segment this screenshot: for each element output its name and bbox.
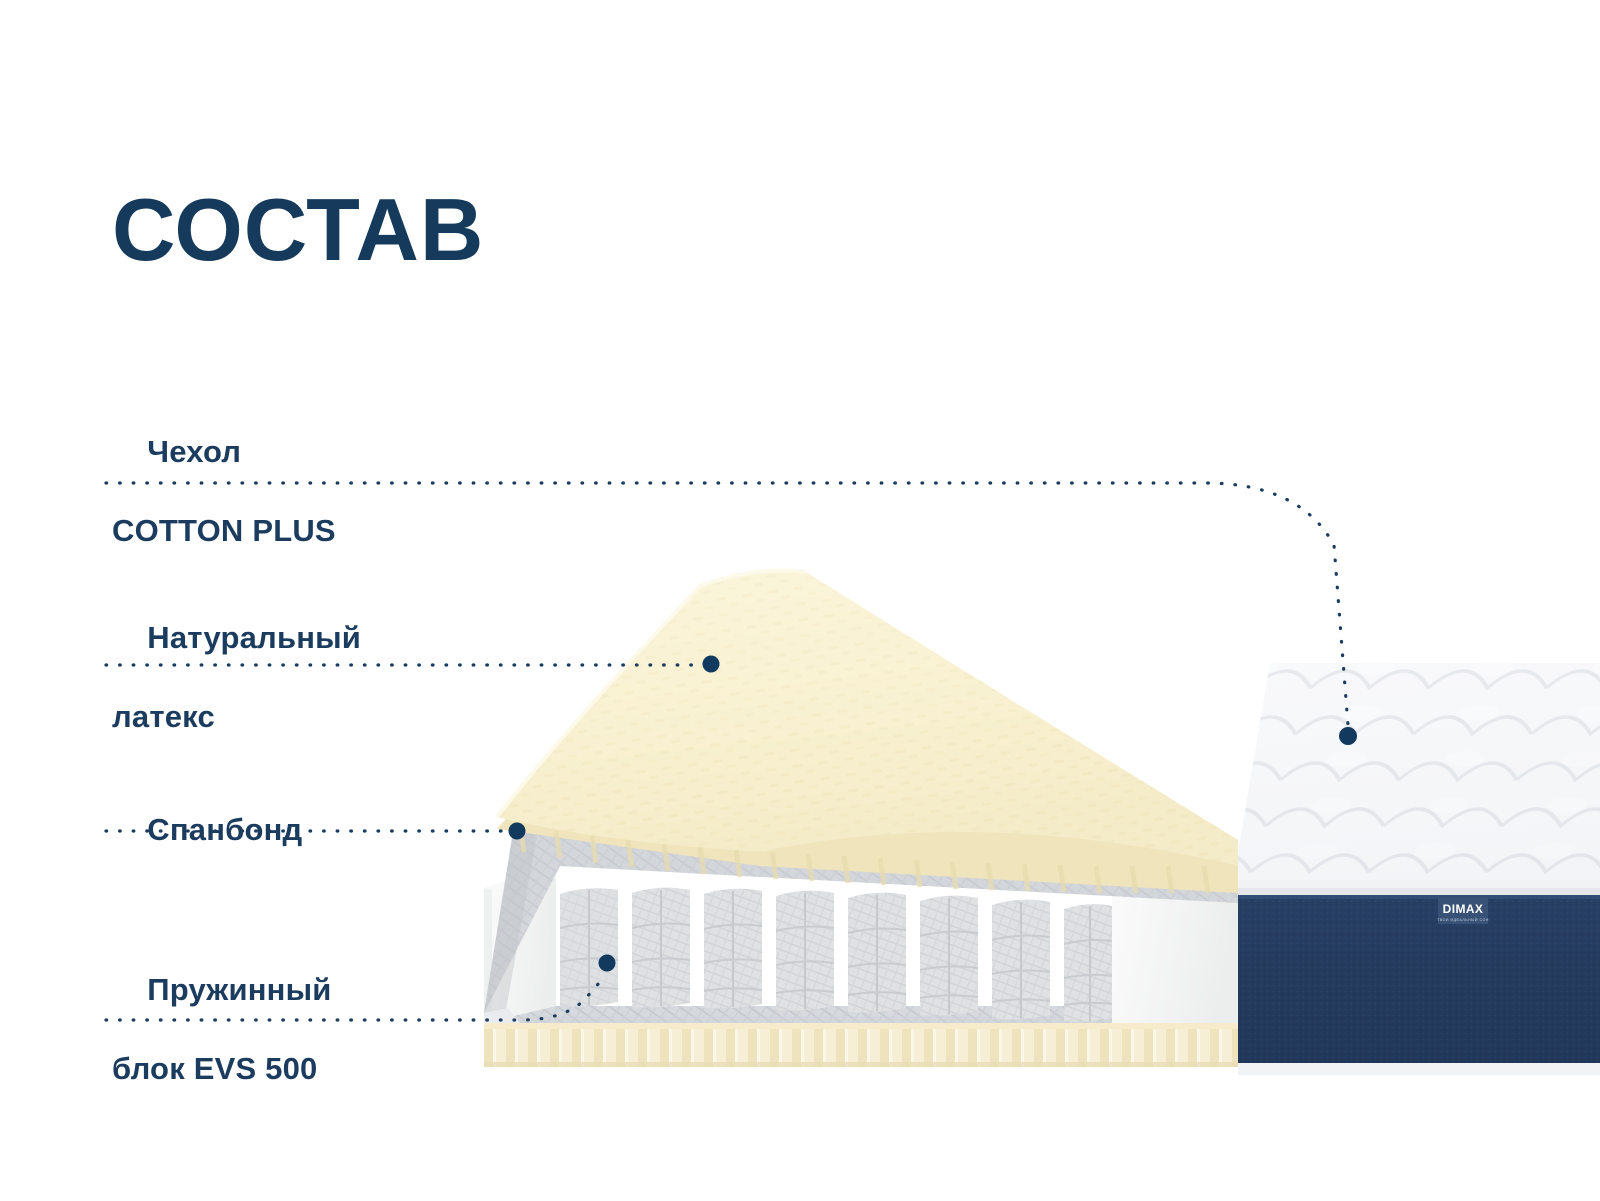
brand-logo-text: DIMAX <box>1443 902 1484 916</box>
spring-unit <box>848 893 906 1013</box>
spring-unit <box>560 888 618 1006</box>
spring-unit <box>992 900 1050 1020</box>
mattress-bottom-hem <box>1238 1063 1600 1075</box>
base-layer <box>484 1023 1238 1067</box>
leader-dot-spunbond <box>509 823 526 840</box>
perimeter-foam-right <box>1112 886 1238 1023</box>
infographic-canvas: СОСТАВ Чехол COTTON PLUS Натуральный лат… <box>0 0 1600 1201</box>
brand-logo-subtitle: ТВОИ ИДЕАЛЬНЫЙ СОН <box>1437 918 1489 922</box>
mattress-cutaway-illustration: DIMAX ТВОИ ИДЕАЛЬНЫЙ СОН <box>0 0 1600 1201</box>
leader-dot-latex <box>703 656 720 673</box>
spring-unit <box>920 896 978 1016</box>
spring-unit <box>776 891 834 1011</box>
mattress-side-panel <box>1238 895 1600 1067</box>
mattress-cover-top <box>1232 663 1600 895</box>
leader-dot-cover <box>1339 727 1357 745</box>
spring-block <box>560 888 1112 1022</box>
spring-unit <box>632 888 690 1008</box>
brand-logo: DIMAX ТВОИ ИДЕАЛЬНЫЙ СОН <box>1437 898 1489 924</box>
spring-unit <box>704 889 762 1009</box>
leader-dot-spring-block <box>599 955 616 972</box>
spring-unit <box>1064 904 1112 1021</box>
